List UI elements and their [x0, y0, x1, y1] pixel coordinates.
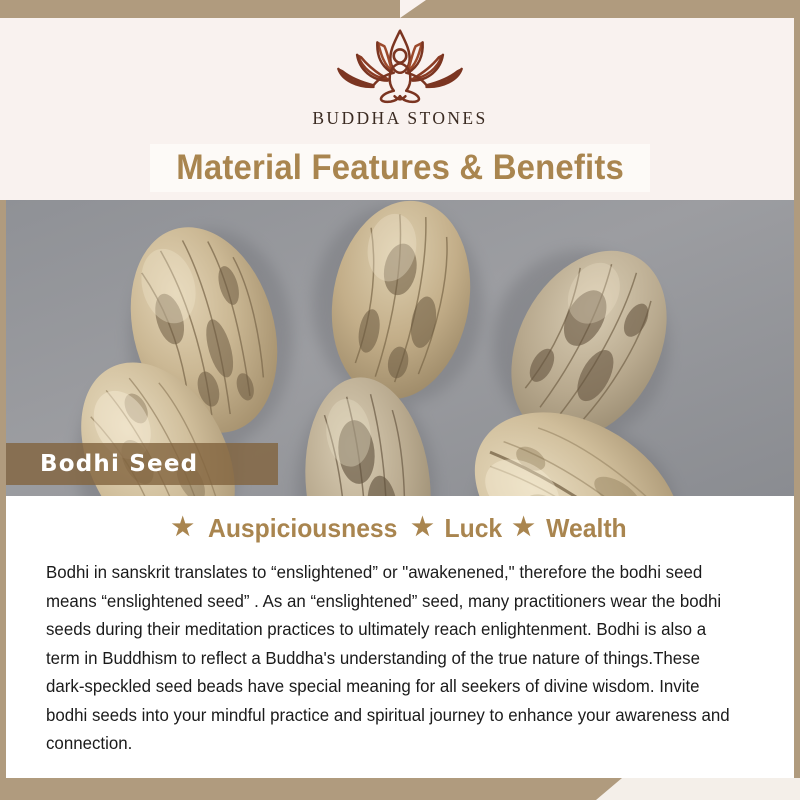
bottom-border-right-gap	[622, 778, 800, 800]
bottom-border-diagonal-notch	[596, 778, 622, 800]
description-panel: ★ Auspiciousness ★ Luck ★ Wealth Bodhi i…	[6, 496, 794, 778]
brand-logo: BUDDHA STONES	[0, 18, 800, 140]
benefit-label-luck: Luck	[444, 513, 502, 544]
star-icon: ★	[171, 515, 193, 540]
infographic-page: BUDDHA STONES Material Features & Benefi…	[0, 0, 800, 800]
title-banner: Material Features & Benefits	[150, 144, 650, 192]
top-border-diagonal-notch	[400, 0, 426, 18]
star-icon: ★	[411, 515, 433, 540]
star-icon: ★	[512, 515, 534, 540]
benefit-label-auspiciousness: Auspiciousness	[208, 513, 397, 544]
left-border-top-gap	[0, 0, 6, 200]
photo-caption-ribbon: Bodhi Seed	[6, 443, 278, 485]
lotus-meditation-icon	[321, 26, 479, 104]
benefits-headline: ★ Auspiciousness ★ Luck ★ Wealth	[6, 513, 794, 544]
description-text: Bodhi in sanskrit translates to “ensligh…	[46, 558, 733, 758]
benefit-label-wealth: Wealth	[546, 513, 627, 544]
right-border-rail	[794, 0, 800, 800]
brand-wordmark: BUDDHA STONES	[312, 108, 487, 129]
page-title: Material Features & Benefits	[176, 148, 624, 188]
photo-caption-label: Bodhi Seed	[40, 451, 198, 477]
